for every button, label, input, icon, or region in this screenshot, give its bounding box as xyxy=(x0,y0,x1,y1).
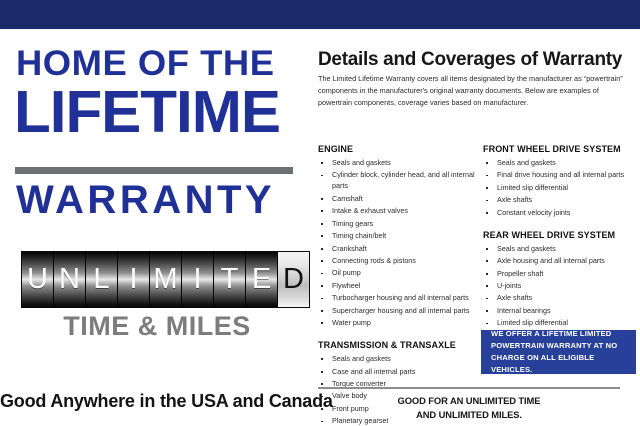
list-item: Axle housing and all internal parts xyxy=(483,256,640,267)
bottom-note: GOOD FOR AN UNLIMITED TIME AND UNLIMITED… xyxy=(318,394,620,421)
list-item: Internal bearings xyxy=(483,306,640,317)
coverage-column-right: FRONT WHEEL DRIVE SYSTEM Seals and gaske… xyxy=(483,144,640,340)
list-item: Camshaft xyxy=(318,194,486,205)
list-item: Propeller shaft xyxy=(483,269,640,280)
list-item: Seals and gaskets xyxy=(318,158,486,169)
list-item: Cylinder block, cylinder head, and all i… xyxy=(318,170,486,192)
odometer-cell: M xyxy=(150,252,182,307)
odometer-cell: I xyxy=(118,252,150,307)
list-item: U-joints xyxy=(483,281,640,292)
hero-headline-line2: LIFETIME xyxy=(14,83,306,142)
right-details-panel: Details and Coverages of Warranty The Li… xyxy=(312,29,640,426)
section-heading: REAR WHEEL DRIVE SYSTEM xyxy=(483,230,640,240)
list-item: Case and all internal parts xyxy=(318,367,486,378)
list-item: Flywheel xyxy=(318,281,486,292)
section-heading: FRONT WHEEL DRIVE SYSTEM xyxy=(483,144,640,154)
list-item: Seals and gaskets xyxy=(483,244,640,255)
hero-headline-line3: WARRANTY xyxy=(16,180,296,220)
offer-callout-text: WE OFFER A LIFETIME LIMITED POWERTRAIN W… xyxy=(481,328,636,375)
section-item-list: Seals and gaskets Final drive housing an… xyxy=(483,158,640,219)
section-heading: TRANSMISSION & TRANSAXLE xyxy=(318,340,486,350)
odometer-glyph: I xyxy=(193,265,201,294)
list-item: Seals and gaskets xyxy=(483,158,640,169)
odometer-cell: E xyxy=(246,252,278,307)
odometer-cell: I xyxy=(182,252,214,307)
odometer-graphic: U N L I M I T E D xyxy=(22,252,309,307)
list-item: Crankshaft xyxy=(318,244,486,255)
list-item: Timing chain/belt xyxy=(318,231,486,242)
list-item: Constant velocity joints xyxy=(483,208,640,219)
hero-gray-rule xyxy=(15,167,293,174)
odometer-cell: T xyxy=(214,252,246,307)
list-item: Final drive housing and all internal par… xyxy=(483,170,640,181)
odometer-glyph: I xyxy=(129,265,137,294)
coverage-column-left: ENGINE Seals and gaskets Cylinder block,… xyxy=(318,144,486,426)
left-hero-panel: HOME OF THE LIFETIME WARRANTY U N L I M … xyxy=(0,29,312,426)
odometer-glyph: L xyxy=(93,265,109,294)
odometer-glyph: T xyxy=(221,265,239,294)
bottom-note-line2: AND UNLIMITED MILES. xyxy=(318,408,620,422)
good-anywhere-tagline: Good Anywhere in the USA and Canada xyxy=(0,391,312,412)
section-item-list: Seals and gaskets Axle housing and all i… xyxy=(483,244,640,330)
list-item: Axle shafts xyxy=(483,195,640,206)
list-item: Intake & exhaust valves xyxy=(318,206,486,217)
odometer-glyph: D xyxy=(283,265,304,294)
list-item: Seals and gaskets xyxy=(318,354,486,365)
time-and-miles-label: TIME & MILES xyxy=(22,311,292,342)
list-item: Axle shafts xyxy=(483,293,640,304)
offer-callout-box: WE OFFER A LIFETIME LIMITED POWERTRAIN W… xyxy=(481,330,636,374)
odometer-cell: N xyxy=(54,252,86,307)
odometer-glyph: M xyxy=(153,265,177,294)
bottom-note-line1: GOOD FOR AN UNLIMITED TIME xyxy=(318,394,620,408)
list-item: Supercharger housing and all internal pa… xyxy=(318,306,486,317)
odometer-glyph: N xyxy=(59,265,80,294)
list-item: Timing gears xyxy=(318,219,486,230)
odometer-cell: U xyxy=(22,252,54,307)
odometer-glyph: E xyxy=(252,265,271,294)
coverage-section-engine: ENGINE Seals and gaskets Cylinder block,… xyxy=(318,144,486,329)
top-navy-band xyxy=(0,0,640,29)
section-item-list: Seals and gaskets Cylinder block, cylind… xyxy=(318,158,486,329)
warranty-flyer: HOME OF THE LIFETIME WARRANTY U N L I M … xyxy=(0,0,640,426)
list-item: Connecting rods & pistons xyxy=(318,256,486,267)
odometer-cell-rolling: D xyxy=(278,252,309,307)
hero-headline-line1: HOME OF THE xyxy=(16,46,305,81)
odometer-glyph: U xyxy=(27,265,48,294)
section-heading: ENGINE xyxy=(318,144,486,154)
bottom-divider-rule xyxy=(318,387,620,389)
coverage-section-rear-wheel-drive: REAR WHEEL DRIVE SYSTEM Seals and gasket… xyxy=(483,230,640,330)
list-item: Turbocharger housing and all internal pa… xyxy=(318,293,486,304)
list-item: Water pump xyxy=(318,318,486,329)
odometer-cell: L xyxy=(86,252,118,307)
list-item: Oil pump xyxy=(318,268,486,279)
details-title: Details and Coverages of Warranty xyxy=(318,49,622,71)
list-item: Limited slip differential xyxy=(483,183,640,194)
details-intro-paragraph: The Limited Lifetime Warranty covers all… xyxy=(318,73,630,108)
coverage-section-front-wheel-drive: FRONT WHEEL DRIVE SYSTEM Seals and gaske… xyxy=(483,144,640,219)
